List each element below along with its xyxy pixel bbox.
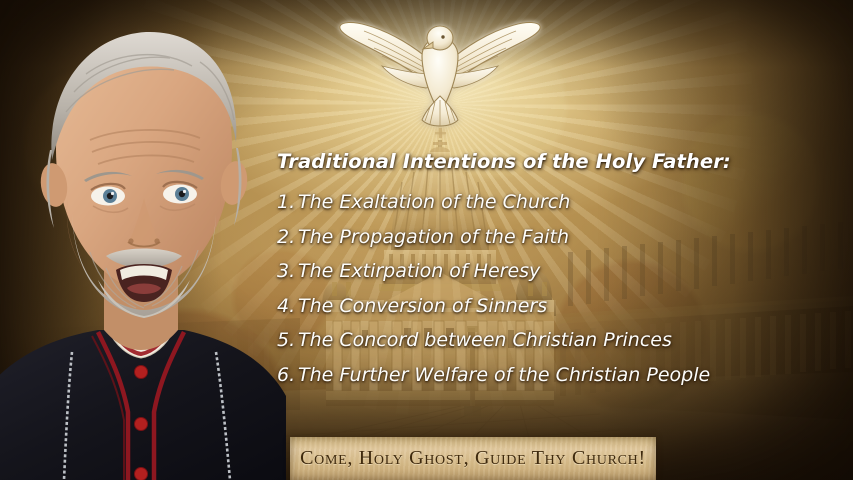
prayer-banner: Come, Holy Ghost, Guide Thy Church! [290, 437, 656, 480]
list-item: 1. The Exaltation of the Church [277, 185, 697, 220]
list-item-label: The Propagation of the Faith [298, 220, 569, 255]
list-item-number: 4. [277, 289, 298, 324]
list-item-label: The Extirpation of Heresy [298, 254, 540, 289]
page-title: Traditional Intentions of the Holy Fathe… [277, 150, 697, 173]
intentions-text-block: Traditional Intentions of the Holy Fathe… [277, 150, 697, 392]
intentions-list: 1. The Exaltation of the Church 2. The P… [277, 185, 697, 392]
list-item-number: 5. [277, 323, 298, 358]
list-item: 3. The Extirpation of Heresy [277, 254, 697, 289]
holy-spirit-dove-icon [330, 4, 550, 144]
list-item-label: The Further Welfare of the Christian Peo… [298, 358, 710, 393]
bishop-speaker-portrait [0, 0, 294, 480]
list-item-number: 2. [277, 220, 298, 255]
prayer-banner-text: Come, Holy Ghost, Guide Thy Church! [300, 447, 646, 470]
list-item-number: 3. [277, 254, 298, 289]
list-item-label: The Exaltation of the Church [298, 185, 570, 220]
list-item: 2. The Propagation of the Faith [277, 220, 697, 255]
list-item: 4. The Conversion of Sinners [277, 289, 697, 324]
list-item: 5. The Concord between Christian Princes [277, 323, 697, 358]
list-item: 6. The Further Welfare of the Christian … [277, 358, 697, 393]
slide-stage: Traditional Intentions of the Holy Fathe… [0, 0, 853, 480]
list-item-number: 1. [277, 185, 298, 220]
list-item-label: The Conversion of Sinners [298, 289, 547, 324]
list-item-number: 6. [277, 358, 298, 393]
list-item-label: The Concord between Christian Princes [298, 323, 672, 358]
